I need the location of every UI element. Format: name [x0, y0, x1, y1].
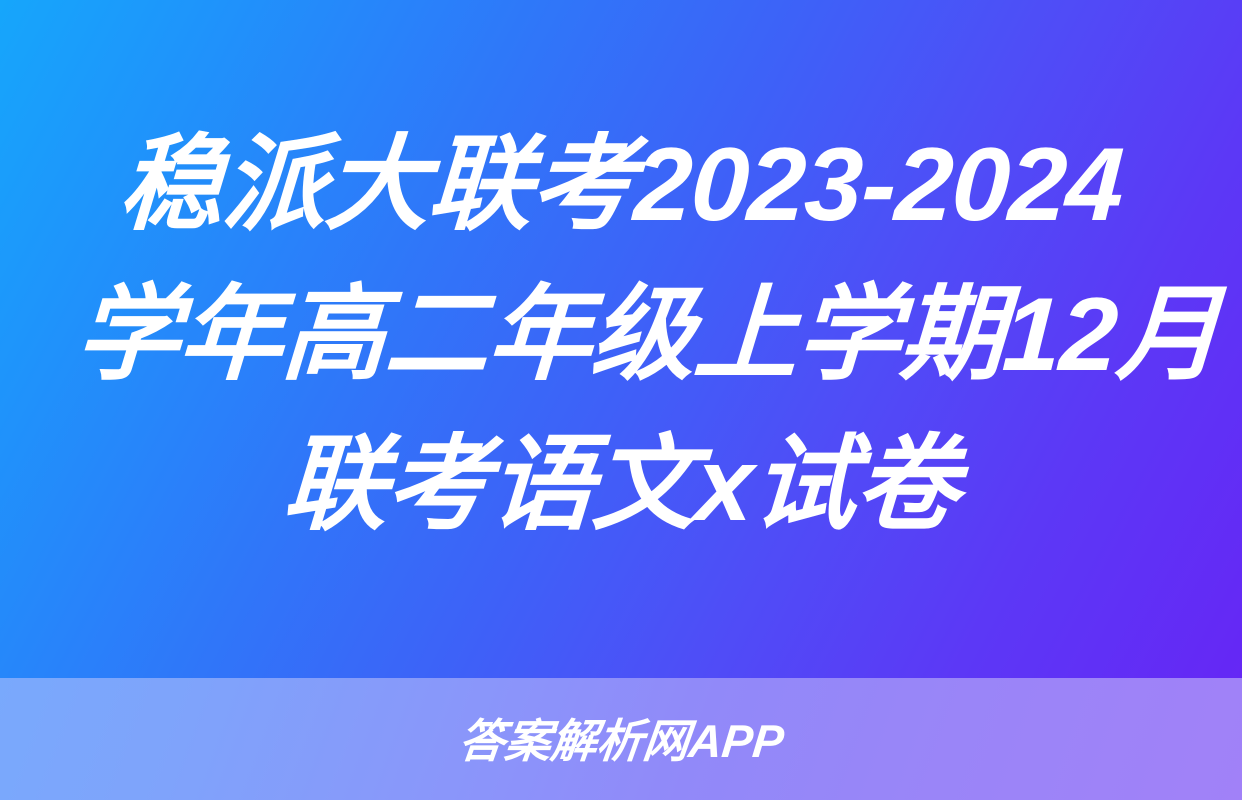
page-title: 稳派大联考2023-2024 学年高二年级上学期12月 联考语文x试卷	[76, 110, 1166, 560]
poster-canvas: 稳派大联考2023-2024 学年高二年级上学期12月 联考语文x试卷 答案解析…	[0, 0, 1242, 800]
title-line-3: 联考语文x试卷	[72, 410, 1170, 560]
app-watermark-label: 答案解析网APP	[456, 718, 785, 764]
title-line-1: 稳派大联考2023-2024	[72, 110, 1170, 260]
title-line-2: 学年高二年级上学期12月	[72, 260, 1170, 410]
hero-content: 稳派大联考2023-2024 学年高二年级上学期12月 联考语文x试卷	[0, 0, 1242, 678]
footer-watermark-band: 答案解析网APP	[0, 678, 1242, 800]
hero-gradient-background: 稳派大联考2023-2024 学年高二年级上学期12月 联考语文x试卷	[0, 0, 1242, 678]
